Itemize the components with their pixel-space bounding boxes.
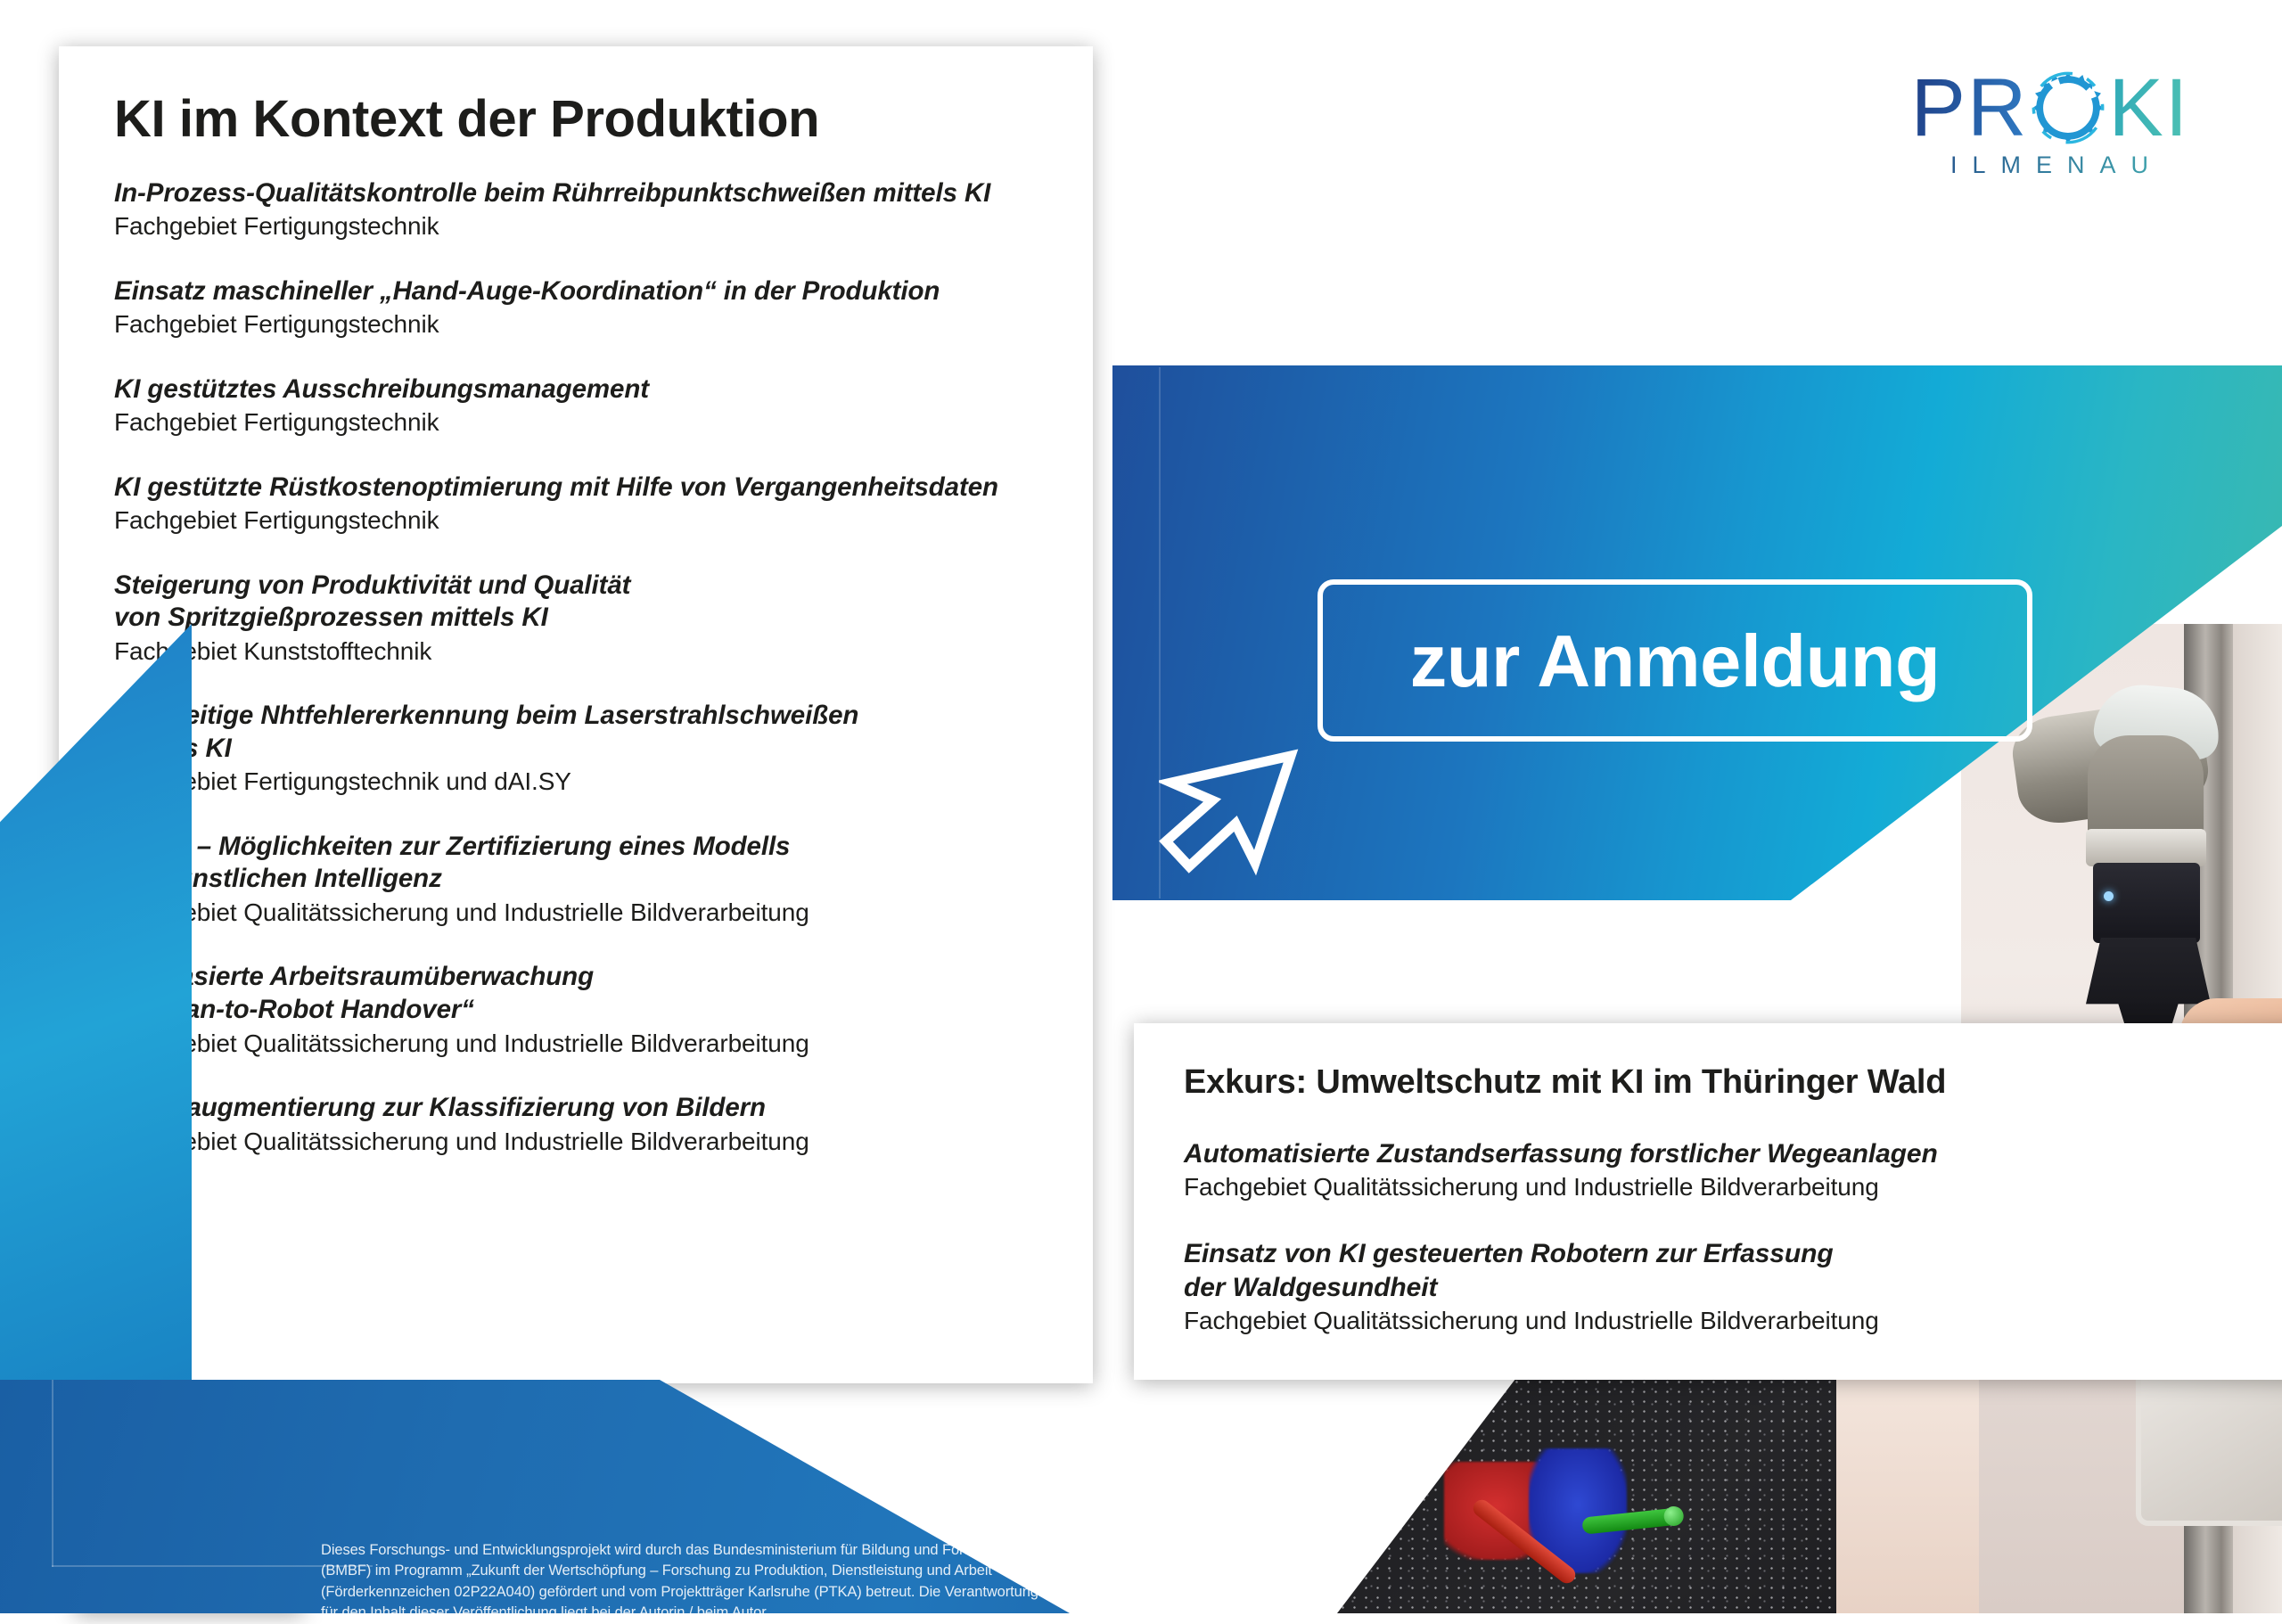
funding-disclaimer: Dieses Forschungs- und Entwicklungsproje… [321, 1540, 1105, 1624]
logo-subtitle: ILMENAU [1872, 152, 2229, 179]
logo-text-ki: KI [2108, 67, 2189, 149]
zur-anmeldung-label: zur Anmeldung [1410, 624, 1940, 698]
logo-text-pr: PR [1911, 67, 2029, 149]
band-hairline-vertical [52, 1380, 53, 1567]
proki-logo: PR KI ILMENAU [1872, 70, 2229, 194]
zur-anmeldung-button[interactable]: zur Anmeldung [1317, 579, 2032, 742]
gear-circle-icon [2030, 70, 2106, 146]
arrow-pointer-icon [1159, 749, 1301, 878]
decorative-shapes [0, 0, 2282, 1613]
